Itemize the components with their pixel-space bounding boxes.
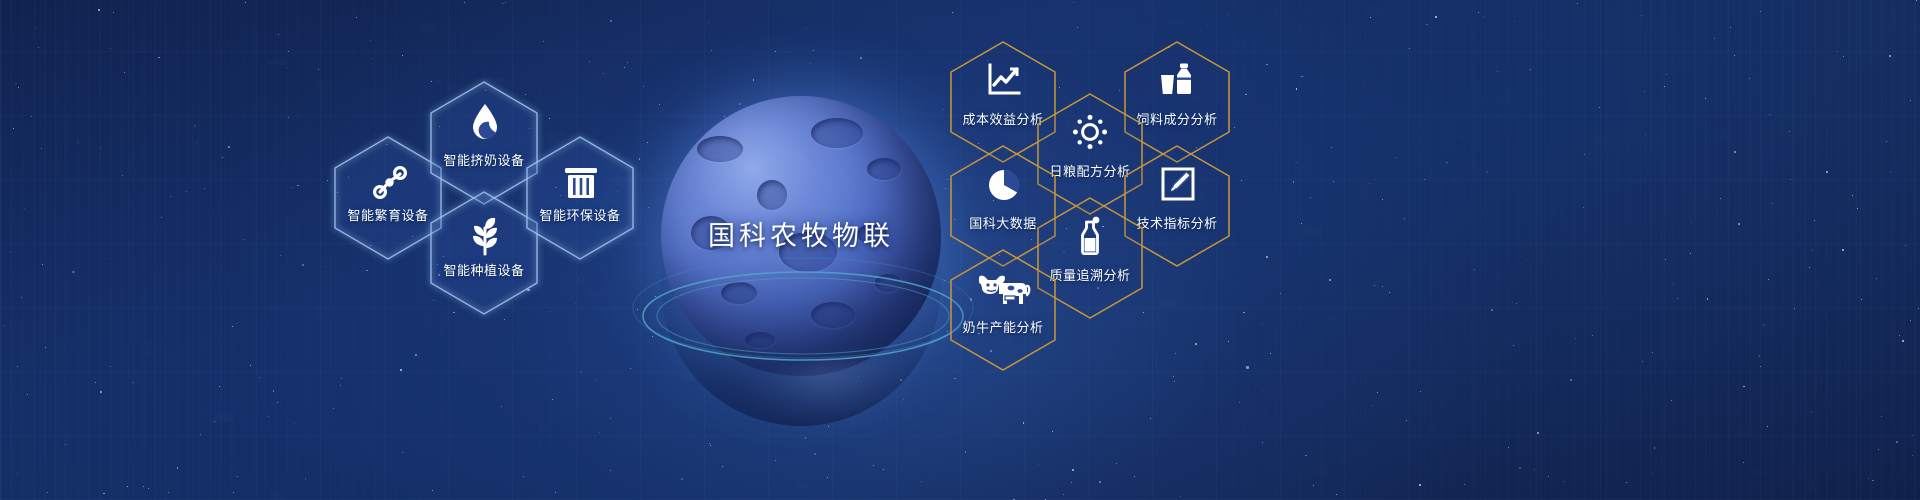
hex-label-quality-traceability: 质量追溯分析: [1045, 265, 1135, 284]
hex-label-feed-composition: 饲料成分分析: [1132, 109, 1222, 128]
hex-label-breeding: 智能繁育设备: [347, 205, 429, 224]
iot-hero-banner: 国科农牧物联 智能繁育设备: [0, 0, 1920, 500]
orbital-ring-icon: [628, 246, 978, 386]
hex-label-planting: 智能种植设备: [441, 260, 527, 279]
planet-graphic: 国科农牧物联: [636, 96, 966, 396]
hex-label-environment: 智能环保设备: [537, 205, 623, 224]
hex-label-technical-index: 技术指标分析: [1132, 213, 1222, 232]
page-title: 国科农牧物联: [636, 214, 966, 253]
hex-label-milking: 智能挤奶设备: [441, 150, 527, 169]
hex-label-cow-capacity: 奶牛产能分析: [958, 317, 1048, 336]
